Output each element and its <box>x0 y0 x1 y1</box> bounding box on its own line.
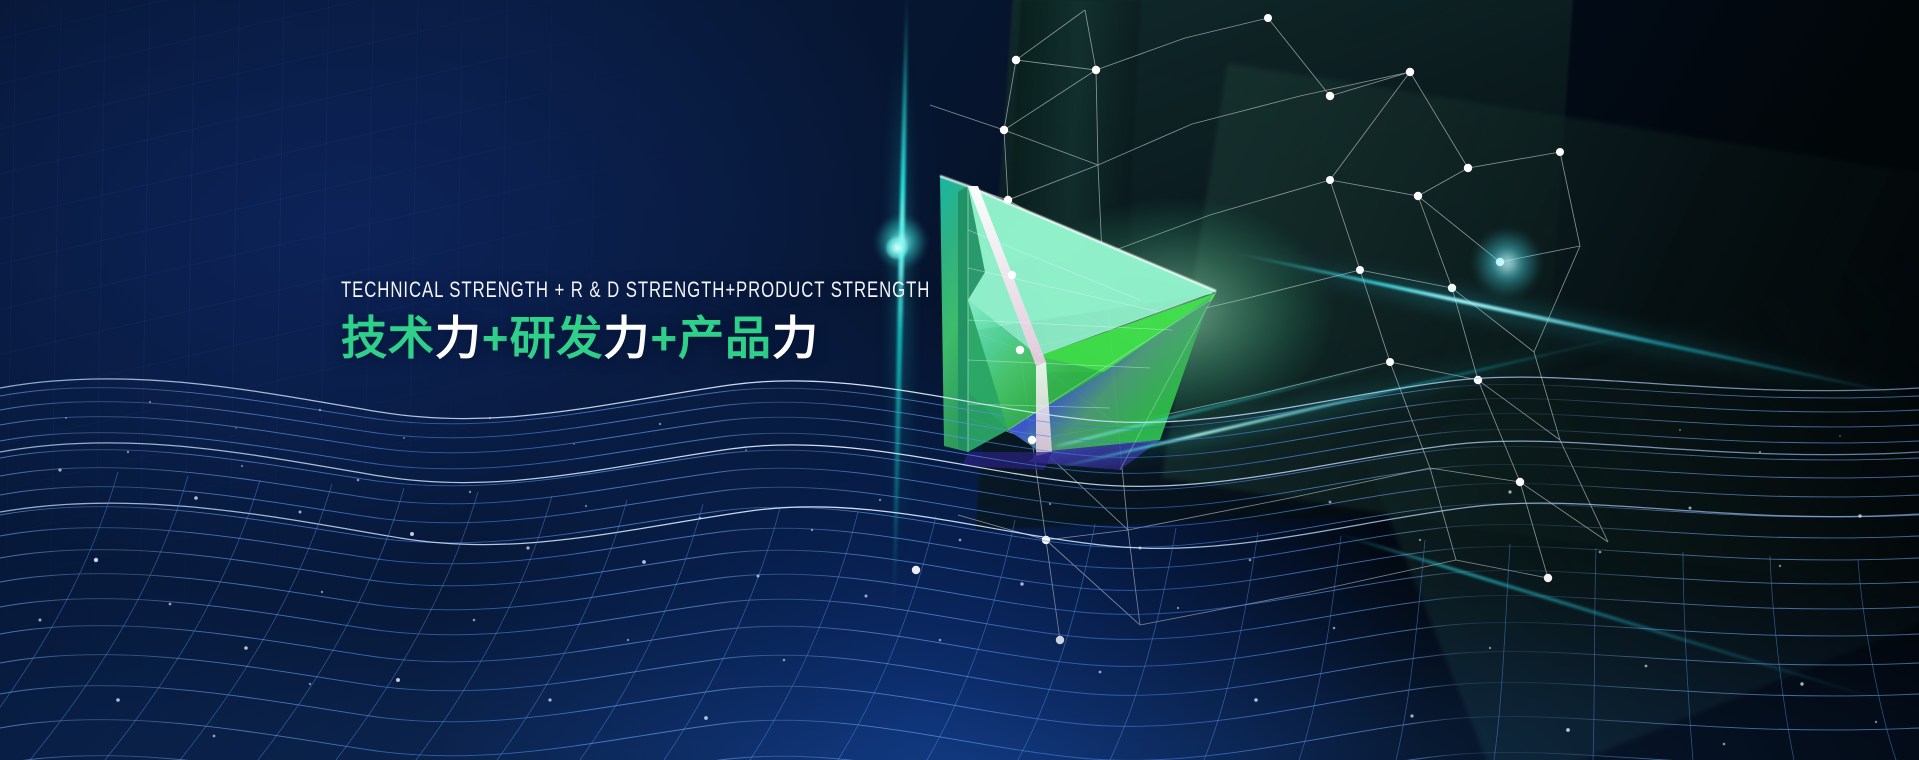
headline-segment-2: + <box>482 312 510 364</box>
cyan-beam-upper-glow <box>1228 242 1917 409</box>
headline-segment-5: + <box>650 312 678 364</box>
background-grid <box>0 0 1033 760</box>
headline-segment-6: 产品 <box>678 312 772 364</box>
cyan-beam-far-right <box>1330 530 1905 708</box>
cyan-beam-lower-right <box>1040 331 1645 473</box>
lens-flare-core <box>886 237 908 259</box>
lens-flare-right <box>1472 228 1542 298</box>
headline-segment-4: 力 <box>603 312 650 364</box>
backdrop-slab-a <box>976 0 1577 530</box>
prism-graphic <box>0 0 1919 760</box>
cyan-beam-upper-right <box>1230 250 1916 399</box>
headline: 技术力+研发力+产品力 <box>341 313 1101 364</box>
hero-banner: TECHNICAL STRENGTH + R & D STRENGTH+PROD… <box>0 0 1919 760</box>
hero-text-block: TECHNICAL STRENGTH + R & D STRENGTH+PROD… <box>341 279 1101 364</box>
cyan-beam-left-lower <box>1055 358 1405 448</box>
particle-dots <box>0 0 1919 760</box>
eyebrow-text: TECHNICAL STRENGTH + R & D STRENGTH+PROD… <box>341 277 995 303</box>
lens-flare-center <box>874 215 928 269</box>
cyan-beam-lower-glow <box>1038 323 1647 482</box>
backdrop-slab-c <box>1365 227 1919 760</box>
headline-segment-0: 技术 <box>341 312 435 364</box>
headline-segment-1: 力 <box>435 312 482 364</box>
backdrop-slab-b <box>1162 63 1919 597</box>
headline-segment-7: 力 <box>772 312 819 364</box>
headline-segment-3: 研发 <box>510 312 604 364</box>
wireframe-wave-terrain <box>0 330 1919 760</box>
